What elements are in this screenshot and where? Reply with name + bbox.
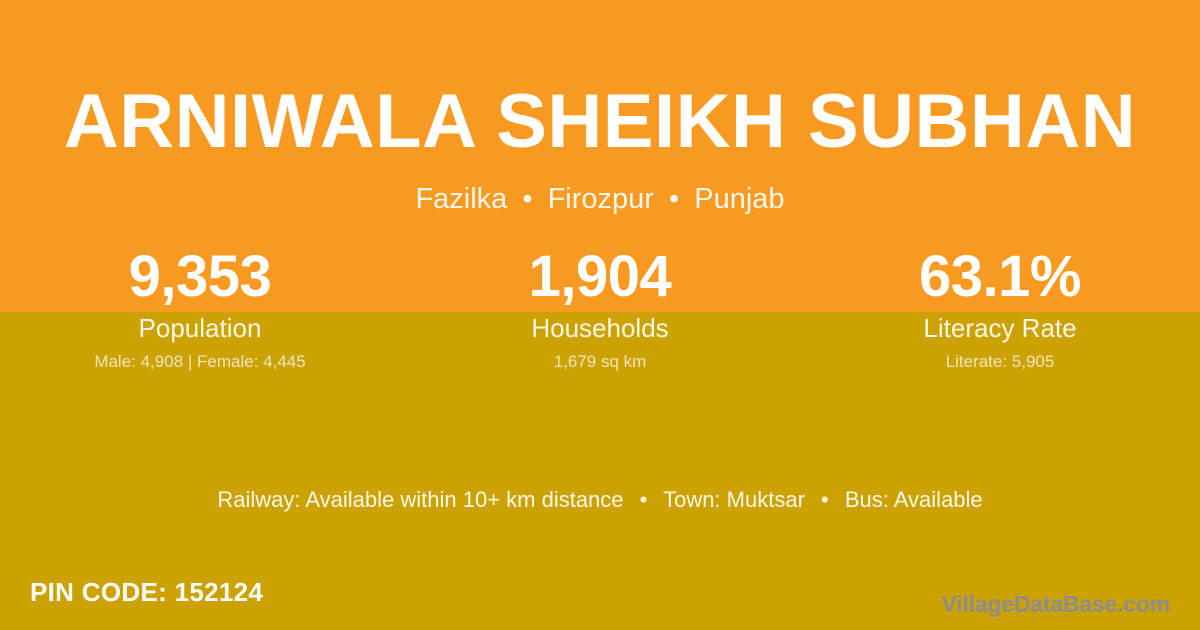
breadcrumb-subdistrict: Firozpur — [548, 183, 654, 215]
stats-row: 9,353 Population Male: 4,908 | Female: 4… — [0, 246, 1200, 373]
fact-town: Town: Muktsar — [663, 487, 805, 512]
site-branding: VillageDataBase.com — [942, 590, 1170, 618]
fact-separator-2: • — [811, 487, 839, 512]
page-title: ARNIWALA SHEIKH SUBHAN — [0, 82, 1200, 162]
amenities-line: Railway: Available within 10+ km distanc… — [0, 485, 1200, 515]
stat-detail: Male: 4,908 | Female: 4,445 — [0, 351, 400, 373]
stat-label: Population — [0, 312, 400, 344]
fact-bus: Bus: Available — [845, 487, 983, 512]
pin-code: PIN CODE: 152124 — [30, 576, 263, 608]
stat-value: 63.1% — [800, 246, 1200, 308]
village-info-card: ARNIWALA SHEIKH SUBHAN Fazilka • Firozpu… — [0, 0, 1200, 630]
breadcrumb-separator-2: • — [662, 183, 686, 215]
stat-label: Households — [400, 312, 800, 344]
stat-households: 1,904 Households 1,679 sq km — [400, 246, 800, 373]
stat-value: 1,904 — [400, 246, 800, 308]
stat-label: Literacy Rate — [800, 312, 1200, 344]
fact-railway: Railway: Available within 10+ km distanc… — [217, 487, 623, 512]
breadcrumb-district: Fazilka — [415, 183, 507, 215]
stat-population: 9,353 Population Male: 4,908 | Female: 4… — [0, 246, 400, 373]
location-breadcrumb: Fazilka • Firozpur • Punjab — [0, 181, 1200, 217]
fact-separator-1: • — [630, 487, 658, 512]
stat-detail: 1,679 sq km — [400, 351, 800, 373]
breadcrumb-separator-1: • — [515, 183, 539, 215]
stat-literacy-rate: 63.1% Literacy Rate Literate: 5,905 — [800, 246, 1200, 373]
stat-detail: Literate: 5,905 — [800, 351, 1200, 373]
breadcrumb-state: Punjab — [694, 183, 784, 215]
stat-value: 9,353 — [0, 246, 400, 308]
